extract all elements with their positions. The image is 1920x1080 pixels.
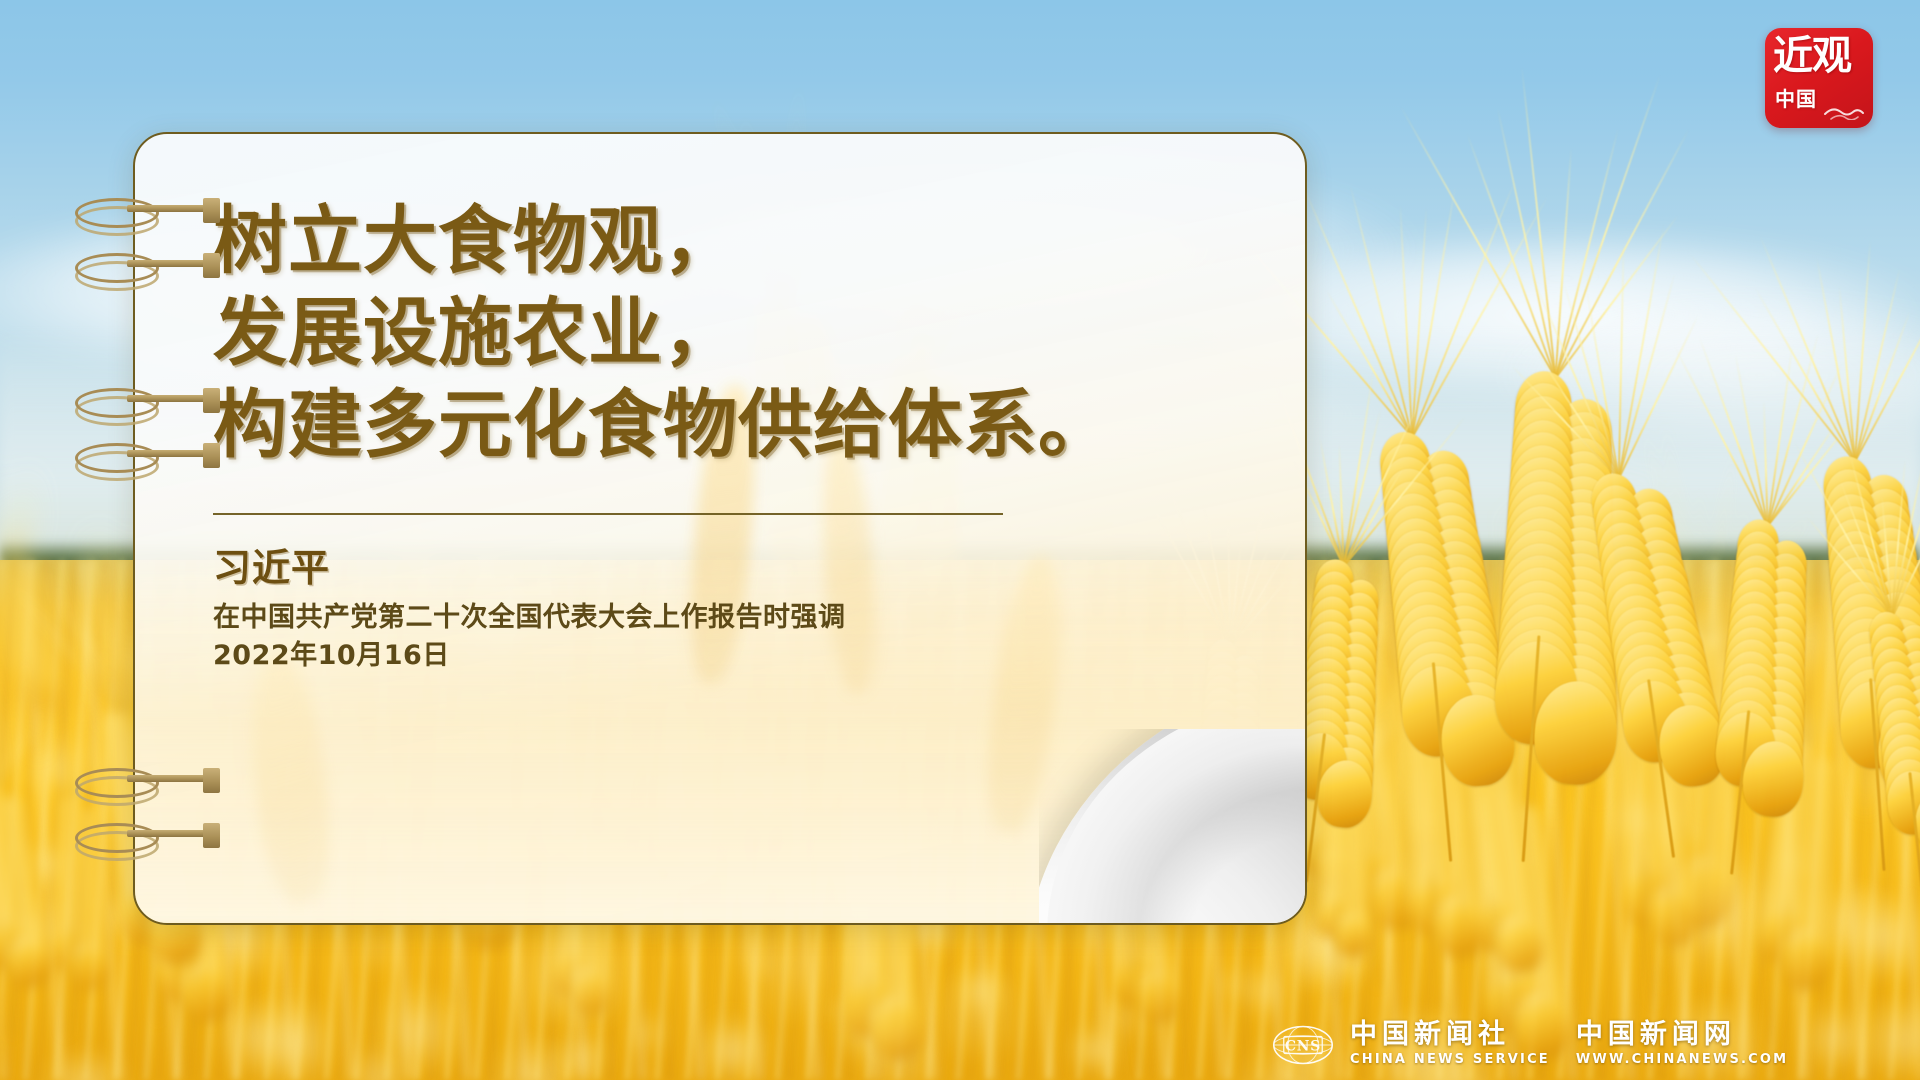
brand-logo-secondary-text: 中国 <box>1775 83 1817 112</box>
binding-ring <box>75 249 225 289</box>
watermark-agency-cn: 中国新闻社 <box>1350 1021 1550 1049</box>
watermark-site-en: WWW.CHINANEWS.COM <box>1576 1052 1788 1069</box>
headline-line-2: 发展设施农业， <box>213 288 1245 380</box>
watermark-site: 中国新闻网 WWW.CHINANEWS.COM <box>1576 1021 1788 1069</box>
brand-logo[interactable]: 近观 中国 <box>1765 28 1873 128</box>
binding-ring <box>75 439 225 479</box>
binding-ring-bar <box>127 830 213 837</box>
binding-ring-tab <box>203 823 220 848</box>
binding-ring-bar <box>127 205 213 212</box>
binding-ring <box>75 384 225 424</box>
quote-content: 树立大食物观， 发展设施农业， 构建多元化食物供给体系。 习近平 在中国共产党第… <box>213 196 1245 675</box>
svg-text:CNS: CNS <box>1285 1038 1321 1054</box>
binding-ring-tab <box>203 443 220 468</box>
watermark-text-group: 中国新闻社 CHINA NEWS SERVICE 中国新闻网 WWW.CHINA… <box>1350 1021 1788 1069</box>
headline-line-1: 树立大食物观， <box>213 196 1245 288</box>
binding-ring-tab <box>203 768 220 793</box>
spiral-binding <box>75 132 225 925</box>
page-curl-corner <box>1039 729 1307 925</box>
speaker-name: 习近平 <box>213 545 1245 593</box>
binding-ring-bar <box>127 395 213 402</box>
quote-card: 树立大食物观， 发展设施农业， 构建多元化食物供给体系。 习近平 在中国共产党第… <box>133 132 1307 925</box>
divider-rule <box>213 513 1003 515</box>
binding-ring-bar <box>127 775 213 782</box>
watermark-agency-en: CHINA NEWS SERVICE <box>1350 1052 1550 1069</box>
cns-globe-icon: CNS <box>1272 1025 1334 1065</box>
binding-ring-tab <box>203 253 220 278</box>
binding-ring-loop <box>75 768 159 798</box>
binding-ring-loop <box>75 198 159 228</box>
watermark-site-cn: 中国新闻网 <box>1576 1021 1788 1049</box>
brand-logo-primary-text: 近观 <box>1773 36 1867 76</box>
watermark: CNS 中国新闻社 CHINA NEWS SERVICE 中国新闻网 WWW.C… <box>1272 1014 1912 1076</box>
quote-card-surface: 树立大食物观， 发展设施农业， 构建多元化食物供给体系。 习近平 在中国共产党第… <box>133 132 1307 925</box>
watermark-agency: 中国新闻社 CHINA NEWS SERVICE <box>1350 1021 1550 1069</box>
cloud-swirl-icon <box>1823 98 1867 120</box>
binding-ring <box>75 194 225 234</box>
headline-line-3: 构建多元化食物供给体系。 <box>213 380 1245 472</box>
binding-ring-loop <box>75 443 159 473</box>
occasion-text: 在中国共产党第二十次全国代表大会上作报告时强调 <box>213 599 1245 637</box>
binding-ring-loop <box>75 823 159 853</box>
poster-stage: 树立大食物观， 发展设施农业， 构建多元化食物供给体系。 习近平 在中国共产党第… <box>0 0 1920 1080</box>
attribution-block: 习近平 在中国共产党第二十次全国代表大会上作报告时强调 2022年10月16日 <box>213 545 1245 675</box>
binding-ring <box>75 819 225 859</box>
binding-ring-bar <box>127 260 213 267</box>
binding-ring-bar <box>127 450 213 457</box>
binding-ring-loop <box>75 388 159 418</box>
binding-ring-loop <box>75 253 159 283</box>
binding-ring-tab <box>203 198 220 223</box>
headline-block: 树立大食物观， 发展设施农业， 构建多元化食物供给体系。 <box>213 196 1245 471</box>
date-text: 2022年10月16日 <box>213 637 1245 675</box>
binding-ring <box>75 764 225 804</box>
binding-ring-tab <box>203 388 220 413</box>
